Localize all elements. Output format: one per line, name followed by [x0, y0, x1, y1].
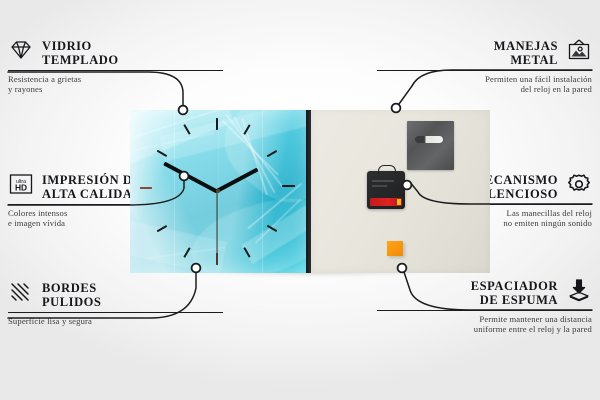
feature-title: BORDES PULIDOS — [42, 280, 101, 309]
feature-divider — [8, 312, 223, 313]
feature-title: VIDRIO TEMPLADO — [42, 38, 119, 67]
feature-subtitle: Resistencia a grietas y rayones — [8, 74, 223, 95]
clock-dial — [130, 110, 306, 273]
feature-subtitle: Permiten una fácil instalación del reloj… — [377, 74, 592, 95]
feature-espaciador-espuma: ESPACIADOR DE ESPUMA Permite mantener un… — [377, 278, 592, 335]
arrow-down-layers-icon — [566, 278, 592, 302]
metal-hanger-plate — [407, 121, 454, 170]
feature-bordes-pulidos: BORDES PULIDOS Superficie lisa y segura — [8, 280, 223, 326]
hanger-slot — [415, 136, 443, 143]
feature-manejas-metal: MANEJAS METAL Permiten una fácil instala… — [377, 38, 592, 95]
diagonal-lines-icon — [8, 280, 34, 304]
product-image — [130, 110, 490, 273]
diamond-icon — [8, 38, 34, 62]
svg-text:HD: HD — [15, 183, 27, 193]
clock-back-panel — [311, 110, 490, 273]
battery — [370, 198, 402, 206]
clock-minute-hand — [163, 162, 218, 193]
feature-header: MANEJAS METAL — [377, 38, 592, 67]
picture-frame-hanging-icon — [566, 38, 592, 62]
feature-title: ESPACIADOR DE ESPUMA — [471, 278, 558, 307]
feature-vidrio-templado: VIDRIO TEMPLADO Resistencia a grietas y … — [8, 38, 223, 95]
battery-terminal — [397, 199, 401, 205]
mechanism-detail — [372, 185, 387, 187]
feature-header: BORDES PULIDOS — [8, 280, 223, 309]
clock-mechanism-box — [367, 171, 405, 209]
feature-divider — [8, 70, 223, 71]
feature-divider — [377, 70, 592, 71]
gear-icon — [566, 172, 592, 196]
foam-spacer — [387, 241, 403, 256]
clock-center-pin — [216, 189, 220, 193]
feature-subtitle: Superficie lisa y segura — [8, 316, 223, 326]
feature-header: ESPACIADOR DE ESPUMA — [377, 278, 592, 307]
ultra-hd-icon: ultra HD — [8, 172, 34, 196]
feature-title: IMPRESIÓN DE ALTA CALIDAD — [42, 172, 142, 201]
clock-hour-hand — [216, 168, 259, 193]
mechanism-detail — [372, 180, 394, 182]
infographic-canvas: VIDRIO TEMPLADO Resistencia a grietas y … — [0, 0, 600, 400]
clock-second-hand — [216, 191, 217, 255]
feature-subtitle: Permite mantener una distancia uniforme … — [377, 314, 592, 335]
feature-header: VIDRIO TEMPLADO — [8, 38, 223, 67]
feature-title: MANEJAS METAL — [494, 38, 558, 67]
mechanism-hook — [378, 165, 396, 175]
feature-divider — [377, 310, 592, 311]
